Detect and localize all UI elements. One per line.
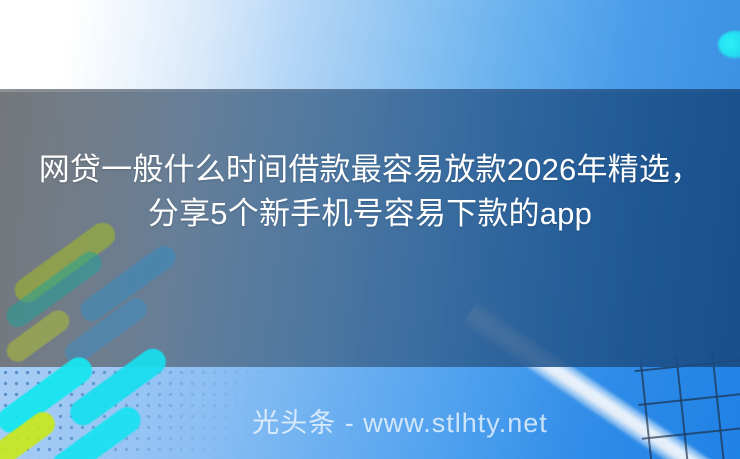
page-title: 网贷一般什么时间借款最容易放款2026年精选，分享5个新手机号容易下款的app xyxy=(0,148,740,236)
poster-canvas: 网贷一般什么时间借款最容易放款2026年精选，分享5个新手机号容易下款的app … xyxy=(0,0,740,459)
site-watermark: 光头条 - www.stlhty.net xyxy=(0,405,740,441)
title-overlay-top-edge xyxy=(0,89,740,92)
